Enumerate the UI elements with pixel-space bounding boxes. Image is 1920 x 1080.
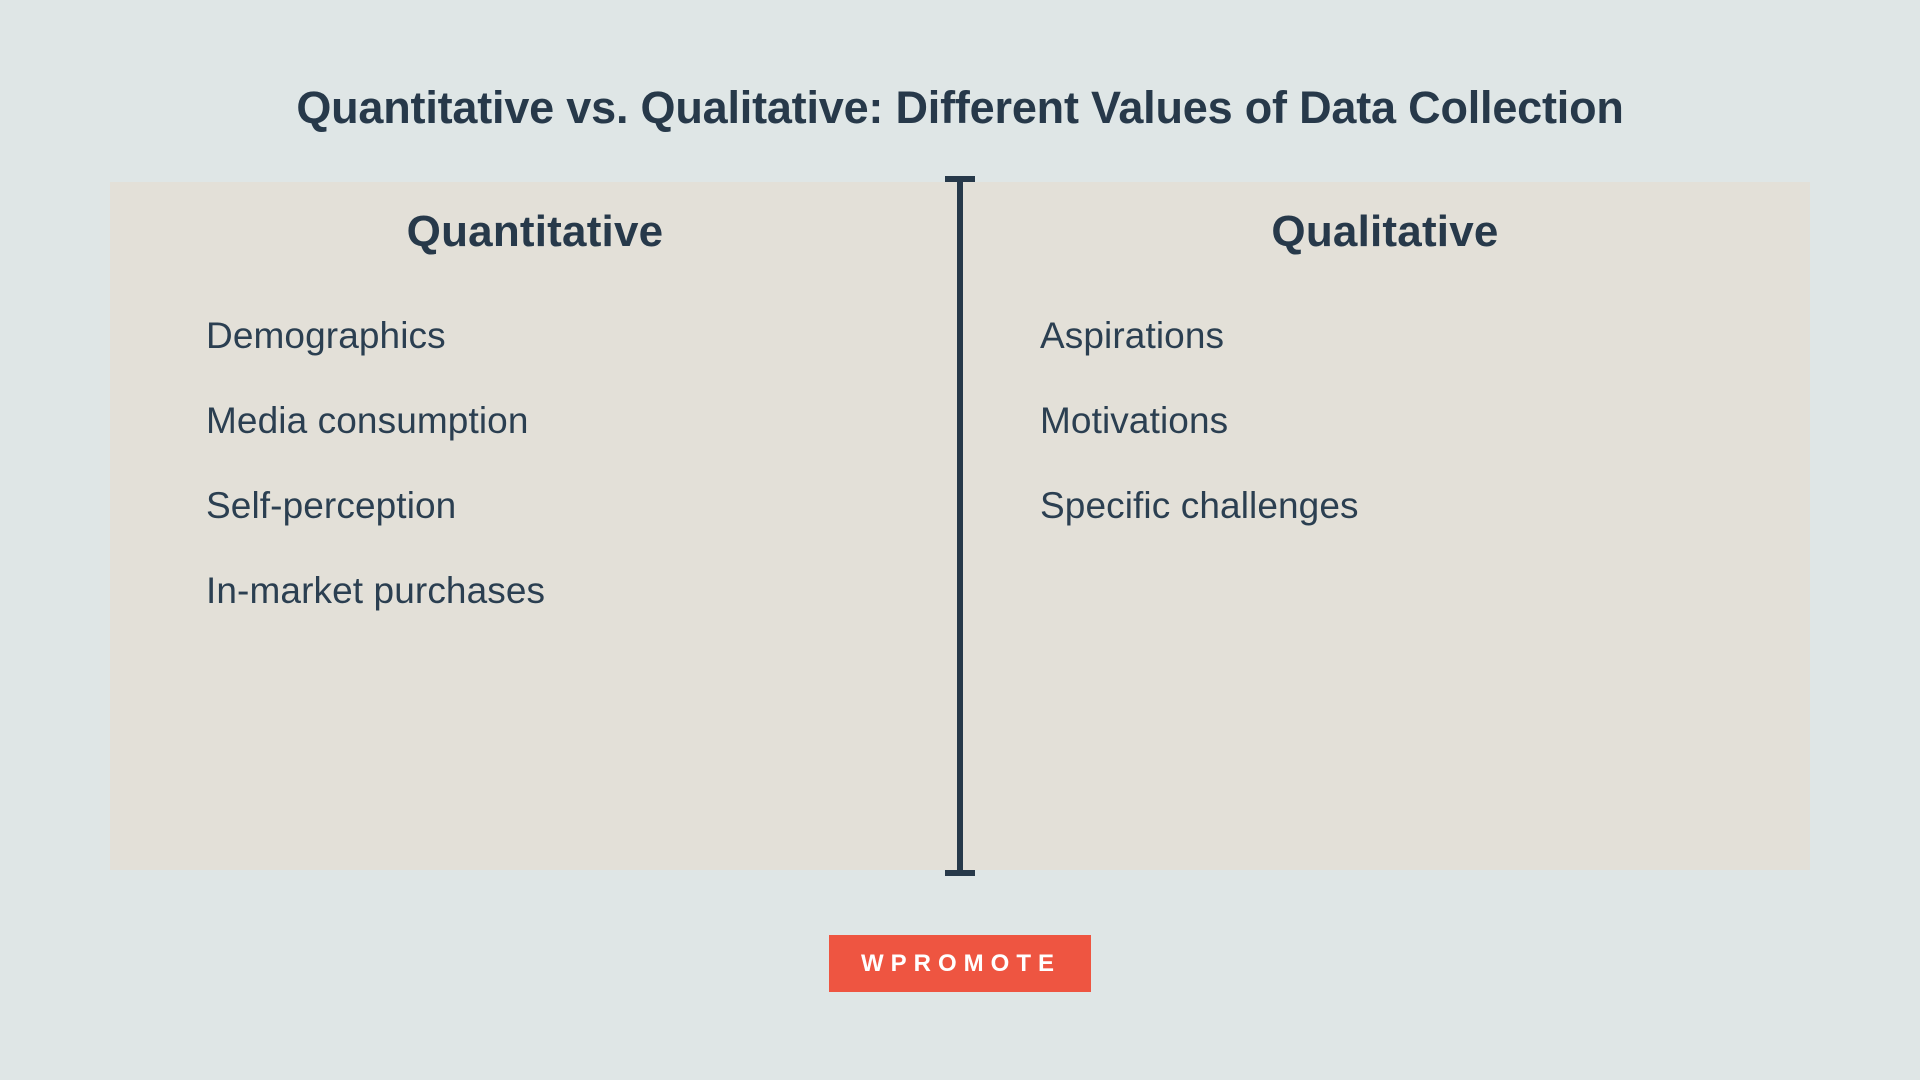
column-heading-qualitative: Qualitative [960,206,1810,259]
column-quantitative: Quantitative Demographics Media consumpt… [110,182,960,870]
list-item: Specific challenges [960,487,1810,524]
slide: Quantitative vs. Qualitative: Different … [0,0,1920,1080]
list-item: Motivations [960,402,1810,439]
page-title: Quantitative vs. Qualitative: Different … [0,82,1920,134]
wpromote-logo: WPROMOTE [829,935,1091,992]
column-heading-quantitative: Quantitative [110,206,960,259]
divider-cap-bottom-icon [945,870,975,876]
qualitative-list: Aspirations Motivations Specific challen… [960,317,1810,524]
list-item: In-market purchases [110,572,960,609]
comparison-columns: Quantitative Demographics Media consumpt… [110,182,1810,870]
quantitative-list: Demographics Media consumption Self-perc… [110,317,960,609]
list-item: Media consumption [110,402,960,439]
column-qualitative: Qualitative Aspirations Motivations Spec… [960,182,1810,870]
list-item: Demographics [110,317,960,354]
list-item: Self-perception [110,487,960,524]
list-item: Aspirations [960,317,1810,354]
comparison-panel: Quantitative Demographics Media consumpt… [110,182,1810,870]
